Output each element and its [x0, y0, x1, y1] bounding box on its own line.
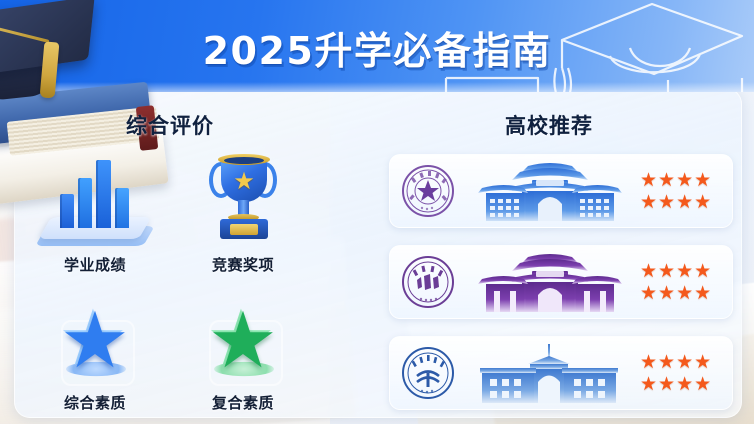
university-seal-purple-star-icon	[400, 163, 456, 219]
bar-1	[60, 194, 74, 228]
rating-stars-text: ★★★★	[640, 170, 712, 191]
university-card[interactable]: ★★★★ ★★★★	[389, 336, 733, 410]
rating-row: ★★★★	[640, 171, 720, 190]
rating-stars-text: ★★★★	[640, 261, 712, 282]
section-title-comprehensive-evaluation: 综合评价	[126, 110, 214, 140]
feature-label: 综合素质	[20, 392, 170, 413]
bar-chart-icon	[20, 150, 170, 250]
blue-star-icon: ★	[20, 296, 170, 388]
rating-stars-text: ★★★★	[640, 192, 712, 213]
chinese-gate-building-icon	[460, 251, 640, 313]
bar-4	[115, 188, 129, 228]
university-seal-blue-icon	[400, 345, 456, 401]
feature-label: 竞赛奖项	[168, 254, 318, 275]
green-star-shape: ★	[201, 298, 285, 382]
rating-row: ★★★★	[640, 262, 720, 281]
feature-item-academic-performance[interactable]: 学业成绩	[20, 150, 170, 275]
chinese-gate-building-icon	[460, 160, 640, 222]
western-hall-building-icon	[460, 342, 640, 404]
university-seal-purple-calligraphy-icon	[400, 254, 456, 310]
rating-stars-text: ★★★★	[640, 352, 712, 373]
rating-stars-text: ★★★★	[640, 374, 712, 395]
rating-row: ★★★★	[640, 375, 720, 394]
rating-stars: ★★★★ ★★★★	[640, 171, 720, 212]
star-glyph: ★	[201, 298, 285, 382]
page-title: 2025升学必备指南	[0, 20, 754, 75]
feature-item-comprehensive-quality[interactable]: ★ 综合素质	[20, 296, 170, 413]
rating-stars: ★★★★ ★★★★	[640, 353, 720, 394]
blue-star-shape: ★	[53, 298, 137, 382]
green-star-icon: ★	[168, 296, 318, 388]
rating-stars-text: ★★★★	[640, 283, 712, 304]
trophy-plate	[230, 224, 258, 235]
bar-3	[96, 160, 111, 228]
bar-chart-base	[39, 217, 152, 239]
rating-row: ★★★★	[640, 193, 720, 212]
trophy-icon: ★	[168, 142, 318, 250]
feature-label: 复合素质	[168, 392, 318, 413]
trophy-star-icon: ★	[232, 170, 256, 194]
university-card[interactable]: ★★★★ ★★★★	[389, 245, 733, 319]
star-glyph: ★	[53, 298, 137, 382]
university-card[interactable]: ★★★★ ★★★★	[389, 154, 733, 228]
poster-stage: 2025升学必备指南 综合评价 高校推荐 学业成绩	[0, 0, 754, 424]
feature-label: 学业成绩	[20, 254, 170, 275]
trophy-shape: ★	[208, 148, 278, 244]
feature-item-composite-quality[interactable]: ★ 复合素质	[168, 296, 318, 413]
rating-row: ★★★★	[640, 353, 720, 372]
rating-stars: ★★★★ ★★★★	[640, 262, 720, 303]
section-title-university-recommendation: 高校推荐	[505, 110, 593, 140]
trophy-rim-inner	[224, 157, 264, 164]
rating-row: ★★★★	[640, 284, 720, 303]
feature-item-competition-awards[interactable]: ★ 竞赛奖项	[168, 142, 318, 275]
bar-2	[78, 178, 92, 228]
